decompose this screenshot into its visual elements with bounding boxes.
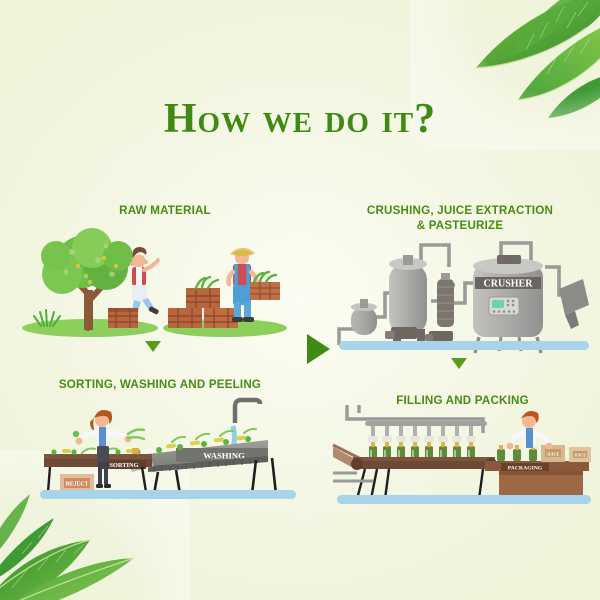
held-produce-left (73, 431, 79, 437)
held-produce-right (128, 430, 144, 440)
section-heading-crushing-line1: CRUSHING, JUICE EXTRACTION (330, 203, 590, 218)
under-floor-pipes (333, 473, 373, 481)
water-pipe (235, 400, 260, 423)
platform-base (40, 490, 296, 499)
worker-packing (507, 411, 553, 449)
infographic-canvas: How we do it? RAW MATERIAL CRUSHING, JUI… (0, 0, 600, 600)
svg-text:JUICE: JUICE (574, 453, 586, 458)
illustration-filling-packing: PACKAGING JUICE JUICE (333, 405, 595, 505)
produce-on-sorting-table (51, 448, 140, 455)
greens-in-crate (196, 277, 218, 288)
reject-crate: REJECT (60, 474, 94, 492)
section-heading-crushing-line2: & PASTEURIZE (330, 218, 590, 233)
arrow-right-icon-stage-transition (307, 334, 330, 364)
section-heading-sorting: SORTING, WASHING AND PEELING (10, 377, 310, 392)
filler-manifold (365, 421, 487, 426)
section-heading-crushing: CRUSHING, JUICE EXTRACTION & PASTEURIZE (330, 203, 590, 233)
page-title: How we do it? (0, 95, 600, 143)
reject-crate-label: REJECT (66, 482, 89, 488)
sorting-machine-label: SORTING (109, 462, 138, 469)
illustration-raw-material (20, 228, 300, 340)
platform-base (339, 341, 589, 350)
packing-conveyor (351, 457, 497, 499)
crusher-machine: CRUSHER (473, 255, 543, 353)
illustration-crushing-extraction: CRUSHER (333, 233, 595, 361)
filter-column (437, 273, 454, 327)
platform-base (337, 495, 591, 504)
washing-conveyor: WASHING (148, 400, 276, 494)
section-heading-raw-material: RAW MATERIAL (30, 203, 300, 218)
farmer-holding-crate (229, 248, 281, 322)
discharge-funnel (559, 279, 589, 329)
svg-text:JUICE: JUICE (547, 452, 560, 457)
packaging-counter-label: PACKAGING (508, 466, 543, 472)
packing-counter: PACKAGING (485, 461, 589, 497)
arrow-down-icon-raw-to-sorting (145, 341, 161, 352)
crate-under-tree (108, 308, 138, 328)
tank-small-left (351, 299, 377, 335)
filling-nozzles (368, 426, 476, 442)
crusher-machine-label: CRUSHER (484, 279, 534, 290)
illustration-sorting-washing: WASHING (28, 400, 310, 500)
